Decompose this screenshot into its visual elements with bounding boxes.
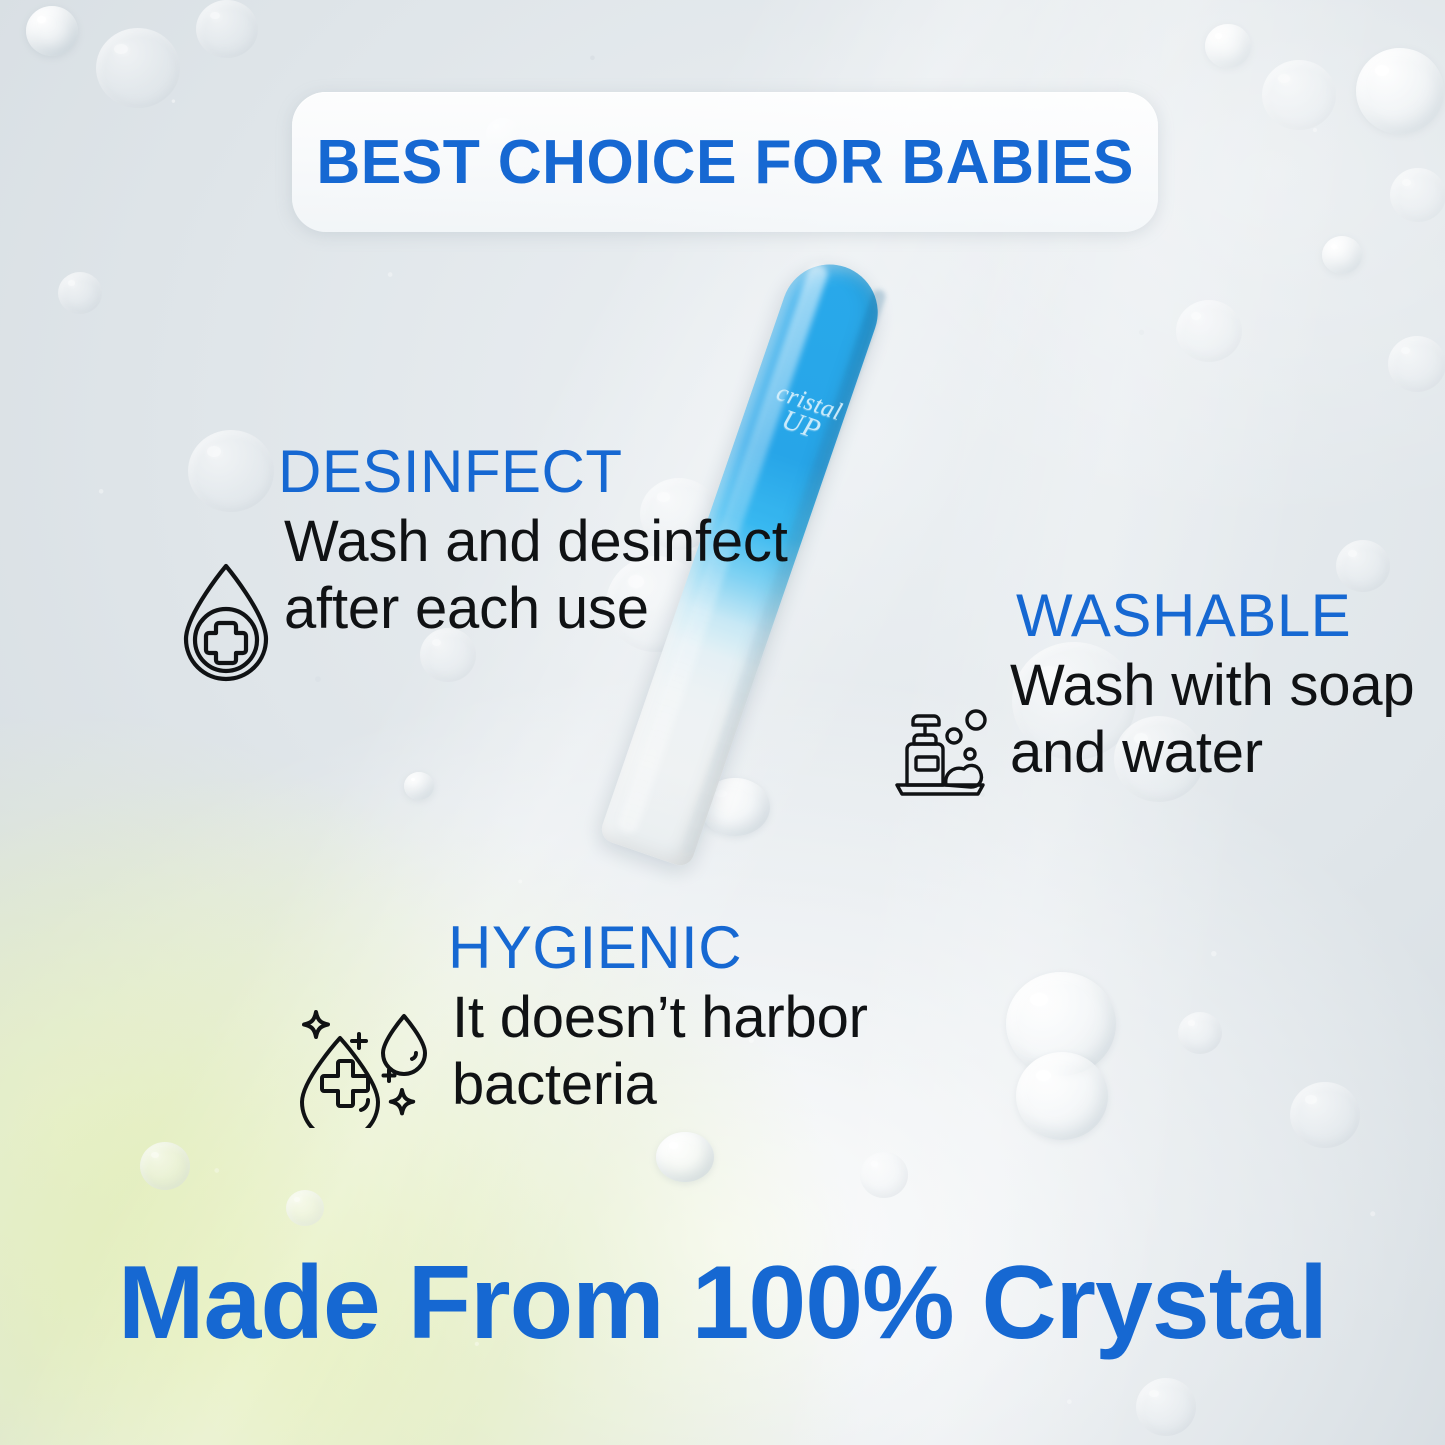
badge-label: BEST CHOICE FOR BABIES <box>316 127 1134 198</box>
feature-hygienic: HYGIENIC <box>292 918 992 1133</box>
feature-title-desinfect: DESINFECT <box>278 442 798 502</box>
best-choice-badge: BEST CHOICE FOR BABIES <box>292 92 1158 232</box>
footer-headline: Made From 100% Crystal <box>0 1244 1445 1363</box>
droplet-sparkle-icon <box>292 998 442 1133</box>
footer-headline-lead: Made From <box>118 1245 692 1361</box>
feature-washable: WASHABLE <box>888 586 1428 809</box>
feature-title-washable: WASHABLE <box>1016 586 1428 646</box>
feature-desinfect: DESINFECT Wash and desinfect after each … <box>178 442 798 687</box>
feature-description-hygienic: It doesn’t harbor bacteria <box>452 984 992 1119</box>
feature-title-hygienic: HYGIENIC <box>448 918 992 978</box>
soap-dispenser-icon <box>888 700 992 809</box>
product-infographic: BEST CHOICE FOR BABIES cristal UP DESINF… <box>0 0 1445 1445</box>
feature-description-desinfect: Wash and desinfect after each use <box>284 508 798 643</box>
droplet-plus-icon <box>178 560 274 687</box>
feature-description-washable: Wash with soap and water <box>1010 652 1428 787</box>
footer-headline-emphasis: 100% Crystal <box>692 1245 1328 1361</box>
